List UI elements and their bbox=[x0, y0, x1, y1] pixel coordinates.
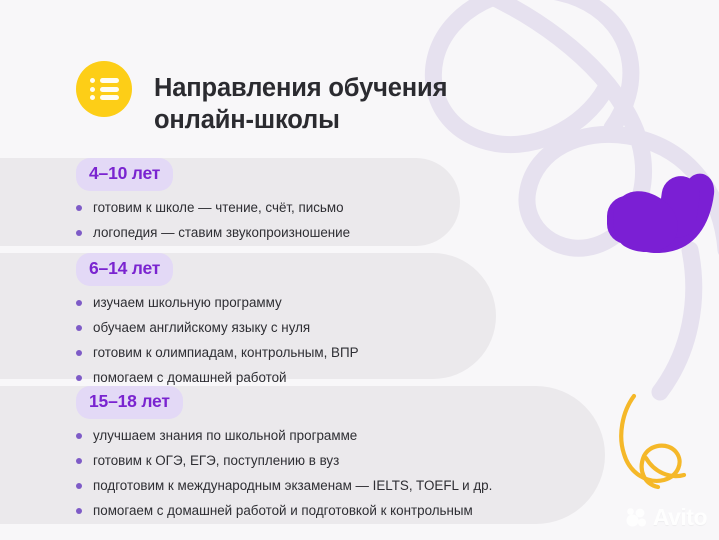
section-item-list: готовим к школе — чтение, счёт, письмо л… bbox=[76, 199, 350, 242]
list-item: подготовим к международным экзаменам — I… bbox=[76, 477, 492, 494]
list-item: помогаем с домашней работой bbox=[76, 369, 359, 386]
poster: Направления обучения онлайн-школы 4–10 л… bbox=[0, 0, 719, 540]
yellow-squiggle-icon bbox=[621, 396, 684, 487]
list-item: помогаем с домашней работой и подготовко… bbox=[76, 502, 492, 519]
purple-hook-icon bbox=[607, 174, 714, 253]
avito-dots-logo-icon bbox=[626, 508, 648, 528]
list-item: готовим к школе — чтение, счёт, письмо bbox=[76, 199, 350, 216]
age-badge: 6–14 лет bbox=[76, 253, 173, 286]
list-item: логопедия — ставим звукопроизношение bbox=[76, 224, 350, 241]
avito-watermark: Avito bbox=[626, 504, 707, 531]
page-title: Направления обучения онлайн-школы bbox=[154, 72, 447, 136]
age-section-6-14: 6–14 лет изучаем школьную программу обуч… bbox=[0, 253, 359, 387]
age-badge: 15–18 лет bbox=[76, 386, 183, 419]
age-section-15-18: 15–18 лет улучшаем знания по школьной пр… bbox=[0, 386, 492, 520]
page-title-line-1: Направления обучения bbox=[154, 72, 447, 104]
page-title-line-2: онлайн-школы bbox=[154, 104, 447, 136]
section-item-list: изучаем школьную программу обучаем англи… bbox=[76, 294, 359, 387]
list-item: улучшаем знания по школьной программе bbox=[76, 427, 492, 444]
poster-header: Направления обучения онлайн-школы bbox=[76, 55, 447, 153]
section-item-list: улучшаем знания по школьной программе го… bbox=[76, 427, 492, 520]
avito-watermark-label: Avito bbox=[653, 504, 707, 531]
list-item: готовим к ОГЭ, ЕГЭ, поступлению в вуз bbox=[76, 452, 492, 469]
age-badge: 4–10 лет bbox=[76, 158, 173, 191]
bulleted-list-icon bbox=[76, 61, 132, 117]
list-item: готовим к олимпиадам, контрольным, ВПР bbox=[76, 344, 359, 361]
list-item: изучаем школьную программу bbox=[76, 294, 359, 311]
age-section-4-10: 4–10 лет готовим к школе — чтение, счёт,… bbox=[0, 158, 350, 241]
list-item: обучаем английскому языку с нуля bbox=[76, 319, 359, 336]
